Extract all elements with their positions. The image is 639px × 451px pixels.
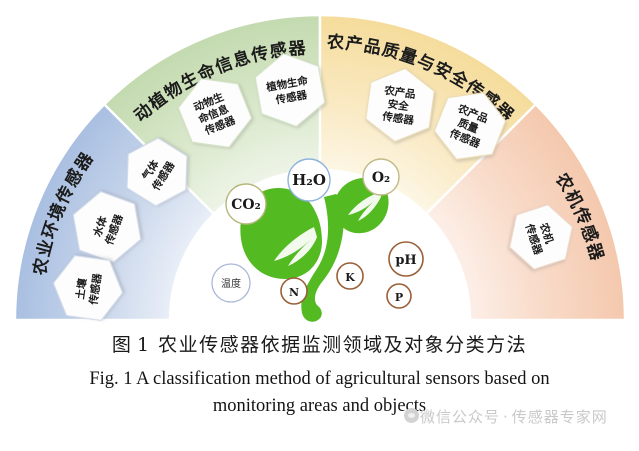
badge-label-n: N: [289, 286, 299, 299]
molecule-badge-temperature[interactable]: 温度: [212, 264, 250, 302]
molecule-badge-n[interactable]: N: [281, 278, 307, 304]
caption-english-line-1: Fig. 1 A classification method of agricu…: [0, 367, 639, 392]
badge-label-o2: O₂: [372, 170, 390, 186]
figure-caption: 图 1农业传感器依据监测领域及对象分类方法 Fig. 1 A classific…: [0, 332, 639, 419]
caption-chinese-text: 农业传感器依据监测领域及对象分类方法: [158, 334, 527, 356]
badge-label-k: K: [345, 271, 355, 284]
badge-label-temperature: 温度: [221, 277, 241, 290]
watermark-logo-icon: [404, 408, 419, 423]
molecule-badge-h2o[interactable]: H₂O: [288, 159, 330, 201]
molecule-badge-o2[interactable]: O₂: [363, 159, 399, 195]
badge-label-p: P: [395, 291, 403, 304]
badge-label-h2o: H₂O: [292, 171, 326, 189]
molecule-badge-ph[interactable]: pH: [389, 242, 423, 276]
badge-label-co2: CO₂: [231, 197, 260, 213]
caption-figure-number: 图 1: [112, 334, 149, 356]
molecule-badge-p[interactable]: P: [387, 284, 411, 308]
badge-label-ph: pH: [395, 253, 416, 268]
molecule-badge-co2[interactable]: CO₂: [226, 184, 266, 224]
molecule-badge-k[interactable]: K: [337, 263, 363, 289]
figure-container: 农业环境传感器 动植物生命信息传感器 农产品质量与安全传感器 农机传感器: [0, 0, 639, 451]
caption-chinese: 图 1农业传感器依据监测领域及对象分类方法: [0, 332, 639, 358]
caption-english-line-2: monitoring areas and objects: [0, 394, 639, 419]
